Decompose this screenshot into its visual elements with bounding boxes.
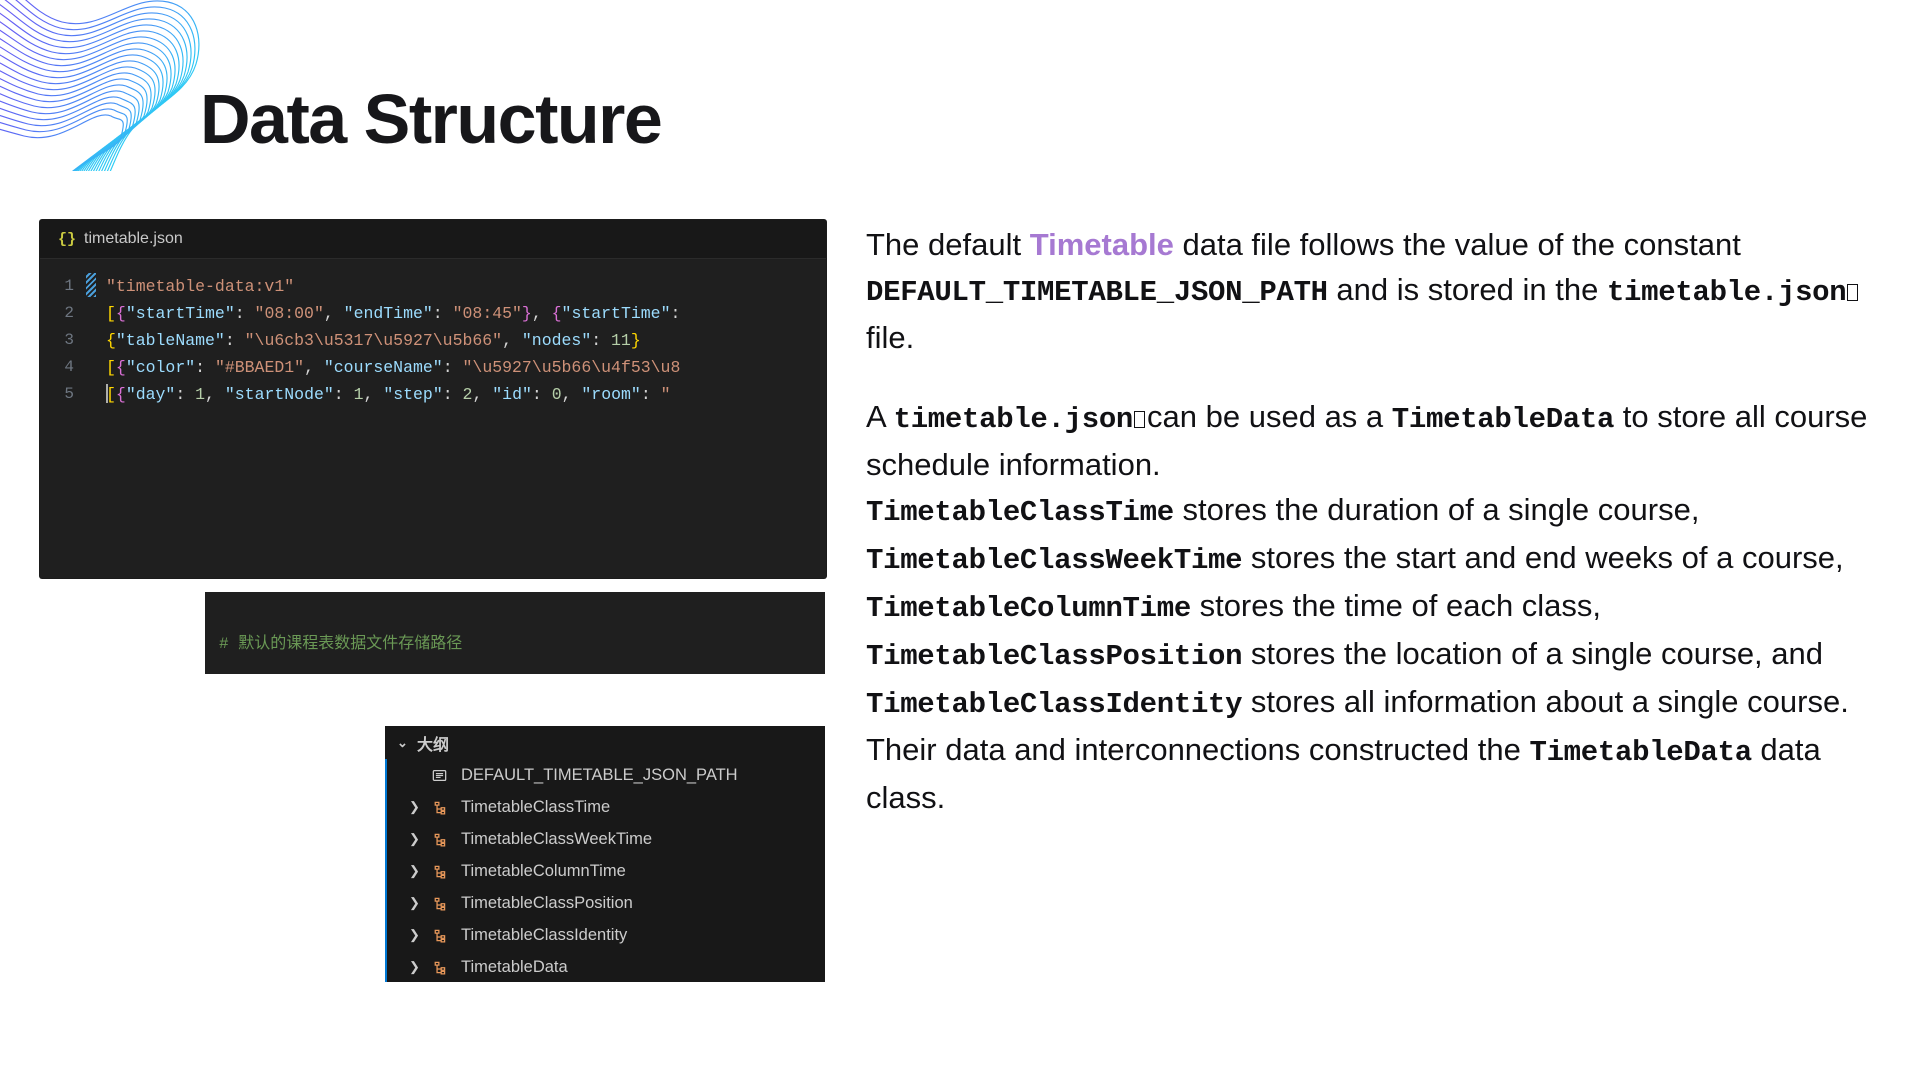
outline-item-timetabledata[interactable]: ❯TimetableData (387, 951, 825, 982)
chevron-down-icon: ⌄ (397, 735, 411, 751)
code-token: "day" (126, 385, 176, 404)
p2-code-timetable-json: timetable.json (894, 403, 1133, 436)
outline-item-label: TimetableColumnTime (461, 862, 626, 881)
outline-panel: ⌄ 大纲 ❯DEFAULT_TIMETABLE_JSON_PATH❯Timeta… (385, 726, 825, 982)
line-number: 1 (40, 273, 86, 300)
code-token: "startTime" (126, 304, 235, 323)
code-token: "startNode" (225, 385, 334, 404)
outline-item-timetableclassidentity[interactable]: ❯TimetableClassIdentity (387, 919, 825, 951)
chevron-right-icon[interactable]: ❯ (409, 863, 431, 879)
code-token: { (552, 304, 562, 323)
code-line[interactable]: 3{"tableName": "\u6cb3\u5317\u5927\u5b66… (40, 327, 826, 354)
outline-item-timetableclassweektime[interactable]: ❯TimetableClassWeekTime (387, 823, 825, 855)
code-token: "nodes" (522, 331, 591, 350)
code-token: [ (106, 304, 116, 323)
code-token: , (532, 304, 552, 323)
code-token: { (116, 304, 126, 323)
code-token: : (670, 304, 680, 323)
code-token: "\u6cb3\u5317\u5927\u5b66" (245, 331, 502, 350)
p2-code-columntime: TimetableColumnTime (866, 592, 1191, 625)
line-number: 4 (40, 354, 86, 381)
outline-item-label: TimetableClassPosition (461, 894, 633, 913)
class-icon (431, 863, 461, 880)
code-token: "08:45" (453, 304, 522, 323)
code-line[interactable]: 5[{"day": 1, "startNode": 1, "step": 2, … (40, 381, 826, 408)
p2-text-a: A (866, 399, 894, 434)
outline-item-label: TimetableClassTime (461, 798, 610, 817)
chevron-right-icon[interactable]: ❯ (409, 799, 431, 815)
decorative-wave-graphic (0, 0, 220, 171)
body-copy: The default Timetable data file follows … (866, 222, 1876, 820)
code-line[interactable]: 4[{"color": "#BBAED1", "courseName": "\u… (40, 354, 826, 381)
p2-code-classposition: TimetableClassPosition (866, 640, 1242, 673)
code-token: "08:00" (255, 304, 324, 323)
code-token: "id" (492, 385, 532, 404)
code-token: "timetable-data:v1" (106, 277, 294, 296)
code-token: "\u5927\u5b66\u4f53\u8 (463, 358, 681, 377)
code-token: { (116, 358, 126, 377)
chevron-right-icon[interactable]: ❯ (409, 831, 431, 847)
p1-text-d: file. (866, 320, 914, 355)
code-token: : (532, 385, 552, 404)
class-icon (431, 831, 461, 848)
code-token: "room" (581, 385, 640, 404)
p1-code-timetable-json: timetable.json (1607, 276, 1846, 309)
outline-item-timetableclasstime[interactable]: ❯TimetableClassTime (387, 791, 825, 823)
code-token: , (304, 358, 324, 377)
code-token: 1 (354, 385, 364, 404)
code-token: : (641, 385, 661, 404)
code-line-text: [{"day": 1, "startNode": 1, "step": 2, "… (96, 381, 671, 408)
code-token: : (225, 331, 245, 350)
code-token: { (116, 385, 126, 404)
code-token: 2 (463, 385, 473, 404)
outline-header[interactable]: ⌄ 大纲 (385, 726, 825, 759)
code-token: [ (106, 358, 116, 377)
code-token: [ (106, 385, 116, 404)
p2-text-b: can be used as a (1147, 399, 1392, 434)
code-token: " (661, 385, 671, 404)
code-token: : (433, 304, 453, 323)
json-code-area[interactable]: 1"timetable-data:v1"2[{"startTime": "08:… (40, 259, 826, 408)
outline-list: ❯DEFAULT_TIMETABLE_JSON_PATH❯TimetableCl… (385, 759, 825, 982)
code-token: , (562, 385, 582, 404)
code-token: 11 (611, 331, 631, 350)
json-braces-icon: {} (58, 231, 76, 248)
p2-text-i: Their data and interconnections construc… (866, 732, 1529, 767)
missing-glyph-box (1847, 284, 1858, 301)
code-line-text: "timetable-data:v1" (96, 273, 294, 300)
editor-tab-timetable-json[interactable]: {} timetable.json (54, 220, 195, 258)
code-line-text: {"tableName": "\u6cb3\u5317\u5927\u5b66"… (96, 327, 641, 354)
line-number: 5 (40, 381, 86, 408)
code-token: : (175, 385, 195, 404)
chevron-right-icon[interactable]: ❯ (409, 927, 431, 943)
code-token: "color" (126, 358, 195, 377)
code-token: 1 (195, 385, 205, 404)
class-icon (431, 927, 461, 944)
code-token: "step" (383, 385, 442, 404)
code-token: "endTime" (344, 304, 433, 323)
python-code-snippet: # 默认的课程表数据文件存储路径 DEFAULT_TIMETABLE_JSON_… (205, 592, 825, 674)
p1-highlight-timetable: Timetable (1030, 227, 1174, 262)
code-token: } (631, 331, 641, 350)
code-token: : (334, 385, 354, 404)
chevron-right-icon[interactable]: ❯ (409, 959, 431, 975)
code-token: "startTime" (562, 304, 671, 323)
json-editor-panel: {} timetable.json 1"timetable-data:v1"2[… (40, 220, 826, 578)
code-token: : (235, 304, 255, 323)
p2-code-timetabledata-2: TimetableData (1529, 736, 1751, 769)
editor-tabbar: {} timetable.json (40, 220, 826, 259)
chevron-right-icon[interactable]: ❯ (409, 895, 431, 911)
code-token: : (443, 358, 463, 377)
p2-code-classidentity: TimetableClassIdentity (866, 688, 1242, 721)
outline-item-label: TimetableClassIdentity (461, 926, 627, 945)
code-line[interactable]: 1"timetable-data:v1" (40, 273, 826, 300)
code-token: { (106, 331, 116, 350)
folded-region-marker (86, 273, 96, 297)
code-token: , (205, 385, 225, 404)
code-line[interactable]: 2[{"startTime": "08:00", "endTime": "08:… (40, 300, 826, 327)
p2-code-timetabledata: TimetableData (1392, 403, 1614, 436)
code-token: : (591, 331, 611, 350)
p1-text-b: data file follows the value of the const… (1174, 227, 1741, 262)
class-icon (431, 895, 461, 912)
paragraph-1: The default Timetable data file follows … (866, 222, 1876, 360)
outline-item-label: DEFAULT_TIMETABLE_JSON_PATH (461, 766, 738, 785)
p2-text-g: stores the location of a single course, … (1242, 636, 1823, 671)
class-icon (431, 799, 461, 816)
code-token: "tableName" (116, 331, 225, 350)
paragraph-2: A timetable.jsoncan be used as a Timetab… (866, 394, 1876, 820)
outline-item-default-timetable-json-path[interactable]: ❯DEFAULT_TIMETABLE_JSON_PATH (387, 759, 825, 791)
code-token: } (522, 304, 532, 323)
missing-glyph-box (1134, 411, 1145, 428)
python-comment-line: # 默认的课程表数据文件存储路径 (219, 635, 462, 653)
outline-item-label: TimetableClassWeekTime (461, 830, 652, 849)
code-token: : (195, 358, 215, 377)
code-line-text: [{"startTime": "08:00", "endTime": "08:4… (96, 300, 680, 327)
p2-text-e: stores the start and end weeks of a cour… (1242, 540, 1843, 575)
outline-item-timetablecolumntime[interactable]: ❯TimetableColumnTime (387, 855, 825, 887)
code-token: "courseName" (324, 358, 443, 377)
p1-text-c: and is stored in the (1328, 272, 1607, 307)
code-token: , (502, 331, 522, 350)
code-token: : (443, 385, 463, 404)
class-icon (431, 959, 461, 976)
p2-code-classtime: TimetableClassTime (866, 496, 1174, 529)
line-number: 2 (40, 300, 86, 327)
page-title: Data Structure (200, 84, 661, 154)
p1-text-a: The default (866, 227, 1030, 262)
p2-text-d: stores the duration of a single course, (1174, 492, 1700, 527)
editor-tab-label: timetable.json (84, 230, 183, 248)
code-token: "#BBAED1" (215, 358, 304, 377)
p1-code-default-path: DEFAULT_TIMETABLE_JSON_PATH (866, 276, 1328, 309)
p2-text-h: stores all information about a single co… (1242, 684, 1849, 719)
line-number: 3 (40, 327, 86, 354)
code-token: , (364, 385, 384, 404)
outline-header-label: 大纲 (417, 731, 449, 755)
code-token: 0 (552, 385, 562, 404)
p2-text-f: stores the time of each class, (1191, 588, 1601, 623)
code-line-text: [{"color": "#BBAED1", "courseName": "\u5… (96, 354, 680, 381)
code-token: , (472, 385, 492, 404)
code-token: , (324, 304, 344, 323)
outline-item-label: TimetableData (461, 958, 568, 977)
constant-icon (431, 767, 461, 784)
p2-code-classweektime: TimetableClassWeekTime (866, 544, 1242, 577)
outline-item-timetableclassposition[interactable]: ❯TimetableClassPosition (387, 887, 825, 919)
